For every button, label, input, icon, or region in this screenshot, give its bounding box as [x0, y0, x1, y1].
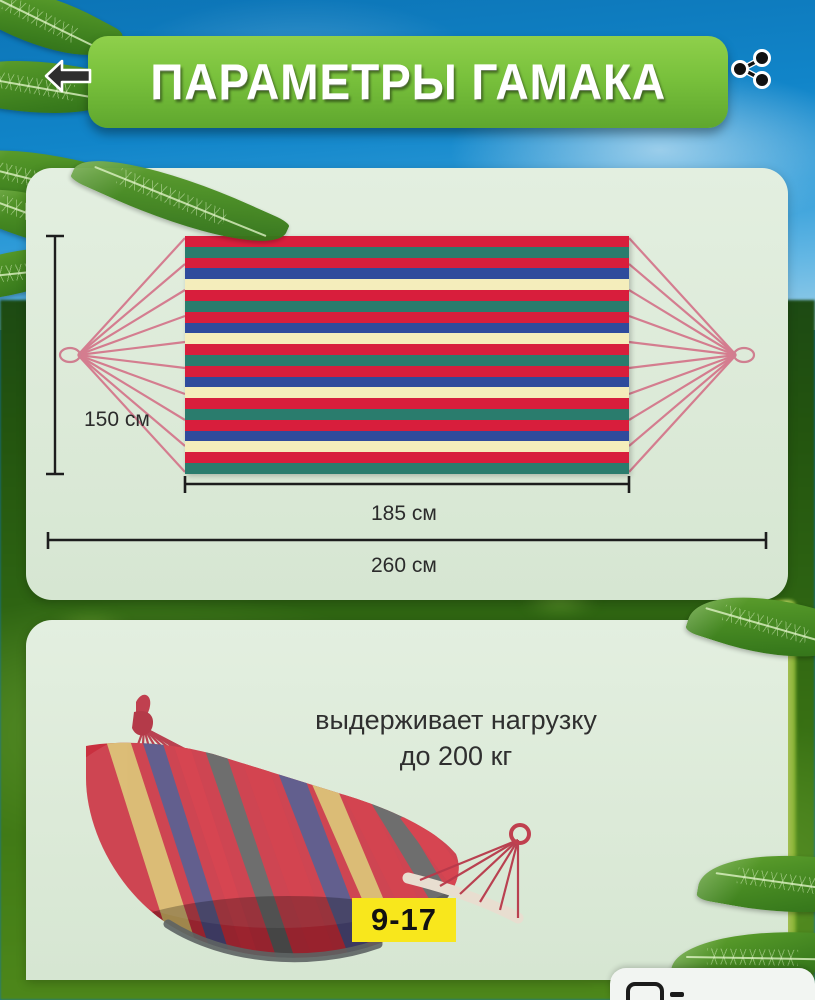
hammock-stripe	[185, 323, 629, 334]
hammock-rope	[78, 290, 185, 355]
hammock-stripe	[185, 312, 629, 323]
hammock-rope	[629, 264, 736, 355]
hammock-stripe	[185, 387, 629, 398]
hammock-stripe	[185, 377, 629, 388]
hammock-stripe	[185, 409, 629, 420]
hammock-stripe	[185, 333, 629, 344]
hammock-stripe	[185, 398, 629, 409]
total-length-dimension-label: 260 см	[371, 554, 437, 578]
price-badge: 9-17	[352, 898, 456, 942]
hammock-stripe	[185, 258, 629, 269]
hammock-stripe	[185, 301, 629, 312]
share-icon	[728, 46, 774, 92]
hammock-rope	[629, 355, 736, 446]
hammock-rope	[629, 355, 736, 420]
hammock-stripe	[185, 355, 629, 366]
comment-bubble-icon	[626, 982, 686, 1000]
hammock-stripe	[185, 431, 629, 442]
hammock-rope	[78, 355, 185, 368]
header-banner: ПАРАМЕТРЫ ГАМАКА	[88, 36, 728, 128]
hammock-stripe	[185, 366, 629, 377]
hammock-rope	[629, 342, 736, 355]
hammock-rope	[629, 355, 736, 368]
height-dimension-label: 150 см	[84, 408, 150, 432]
hammock-stripe	[185, 441, 629, 452]
hammock-dimension-diagram: 150 см 185 см 260 см	[26, 168, 788, 600]
spec-card: 150 см 185 см 260 см	[26, 168, 788, 600]
hammock-rope	[629, 316, 736, 355]
hammock-stripe	[185, 344, 629, 355]
hammock-stripe	[185, 463, 629, 474]
hammock-rope	[78, 355, 185, 394]
back-button[interactable]	[42, 50, 94, 102]
hammock-rope	[78, 316, 185, 355]
right-loop-icon	[734, 348, 754, 362]
hammock-stripe	[185, 268, 629, 279]
hammock-stripe	[185, 279, 629, 290]
hammock-rope	[78, 238, 185, 355]
hammock-rope	[78, 264, 185, 355]
hammock-rope	[78, 355, 185, 446]
body-width-dimension-label: 185 см	[371, 502, 437, 526]
hammock-stripe	[185, 290, 629, 301]
hammock-stripe	[185, 247, 629, 258]
hammock-product-photo	[48, 668, 548, 978]
hammock-fabric	[185, 236, 629, 474]
hammock-rope	[629, 290, 736, 355]
hammock-rope	[629, 238, 736, 355]
hammock-stripe	[185, 420, 629, 431]
back-arrow-icon	[42, 56, 94, 96]
bottom-action-panel[interactable]	[610, 968, 815, 1000]
hammock-rope	[629, 355, 736, 472]
page-title: ПАРАМЕТРЫ ГАМАКА	[150, 53, 666, 111]
left-loop-icon	[60, 348, 80, 362]
hammock-rope	[629, 355, 736, 394]
hammock-rope	[78, 342, 185, 355]
hammock-stripe	[185, 452, 629, 463]
share-button[interactable]	[727, 45, 775, 93]
